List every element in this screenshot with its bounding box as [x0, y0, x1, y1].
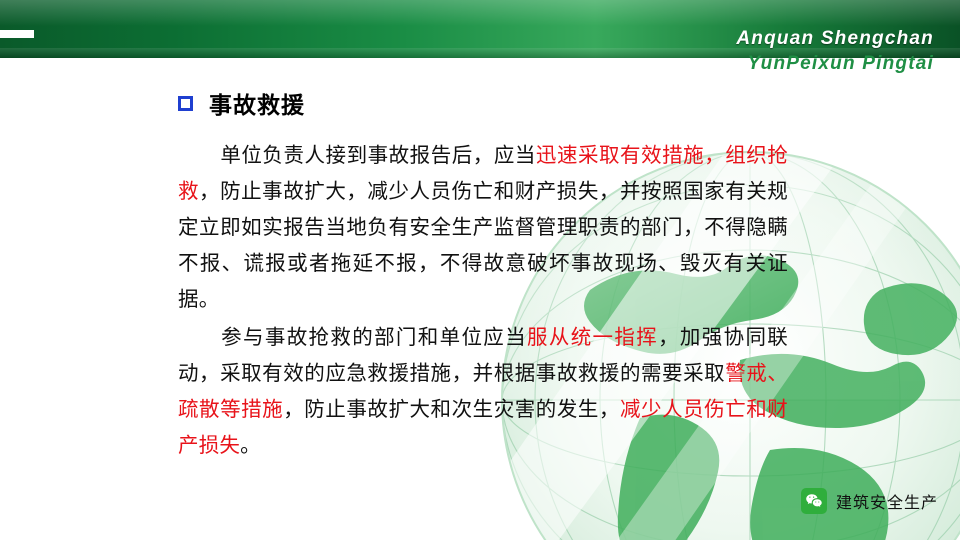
paragraph-1: 单位负责人接到事故报告后，应当迅速采取有效措施，组织抢救，防止事故扩大，减少人员…: [178, 138, 788, 318]
paragraph-2-segment-0: 参与事故抢救的部门和单位应当: [220, 326, 527, 349]
paragraph-1-segment-2: ，防止事故扩大，减少人员伤亡和财产损失，并按照国家有关规定立即如实报告当地负有安…: [178, 180, 788, 311]
slide: Anquan Shengchan YunPeixun Pingtai 事故救援 …: [0, 0, 960, 540]
paragraph-1-segment-0: 单位负责人接到事故报告后，应当: [220, 144, 536, 167]
paragraph-2-segment-1: 服从统一指挥: [527, 326, 658, 349]
header-notch: [0, 30, 34, 38]
brand-title: Anquan Shengchan YunPeixun Pingtai: [736, 26, 934, 76]
brand-line-1: Anquan Shengchan: [736, 26, 934, 51]
wechat-icon: [801, 488, 827, 514]
bullet-heading: 事故救援: [178, 86, 305, 120]
header-sheen: [0, 0, 960, 26]
square-bullet-icon: [178, 96, 193, 111]
paragraph-2-segment-6: 。: [240, 434, 261, 457]
credit-label: 建筑安全生产: [836, 489, 938, 513]
slide-content: 事故救援 单位负责人接到事故报告后，应当迅速采取有效措施，组织抢救，防止事故扩大…: [0, 58, 960, 540]
brand-line-2: YunPeixun Pingtai: [736, 51, 934, 76]
paragraph-2: 参与事故抢救的部门和单位应当服从统一指挥，加强协同联动，采取有效的应急救援措施，…: [178, 320, 788, 464]
page-title: 事故救援: [209, 86, 305, 120]
wechat-credit: 建筑安全生产: [801, 488, 938, 514]
paragraph-2-segment-4: ，防止事故扩大和次生灾害的发生，: [283, 398, 620, 421]
